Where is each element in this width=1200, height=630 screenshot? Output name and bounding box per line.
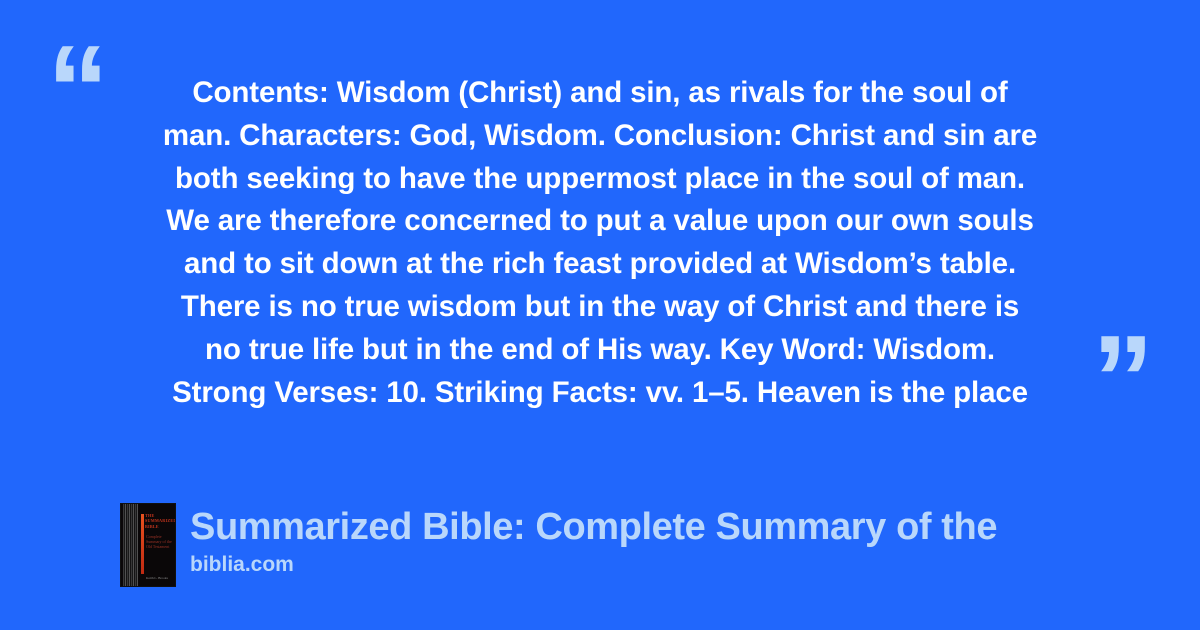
quote-line: man. Characters: God, Wisdom. Conclusion…	[104, 115, 1096, 158]
quote-line: and to sit down at the rich feast provid…	[104, 243, 1096, 286]
quote-text: Contents: Wisdom (Christ) and sin, as ri…	[104, 72, 1096, 414]
book-cover-thumbnail: THE SUMMARIZED BIBLE Complete Summary of…	[120, 503, 176, 587]
quote-card: “ Contents: Wisdom (Christ) and sin, as …	[0, 0, 1200, 630]
quote-line: both seeking to have the uppermost place…	[104, 158, 1096, 201]
source-label: biblia.com	[190, 552, 997, 578]
footer-text-block: Summarized Bible: Complete Summary of th…	[190, 503, 997, 578]
cover-texture-band	[123, 504, 138, 586]
quote-line: We are therefore concerned to put a valu…	[104, 200, 1096, 243]
cover-subtitle-text: Complete Summary of the Old Testament	[146, 534, 175, 550]
quote-line: Strong Verses: 10. Striking Facts: vv. 1…	[104, 372, 1096, 415]
quote-line: no true life but in the end of His way. …	[104, 329, 1096, 372]
open-quote-icon: “	[47, 28, 109, 152]
quote-line: Contents: Wisdom (Christ) and sin, as ri…	[104, 72, 1096, 115]
cover-accent-rule	[141, 514, 144, 574]
book-title: Summarized Bible: Complete Summary of th…	[190, 505, 997, 549]
attribution-footer: THE SUMMARIZED BIBLE Complete Summary of…	[120, 503, 997, 587]
cover-author-text: Keith L. Brooks	[146, 576, 175, 580]
close-quote-icon: ”	[1092, 318, 1154, 442]
cover-title-text: THE SUMMARIZED BIBLE	[145, 513, 175, 529]
quote-line: There is no true wisdom but in the way o…	[104, 286, 1096, 329]
